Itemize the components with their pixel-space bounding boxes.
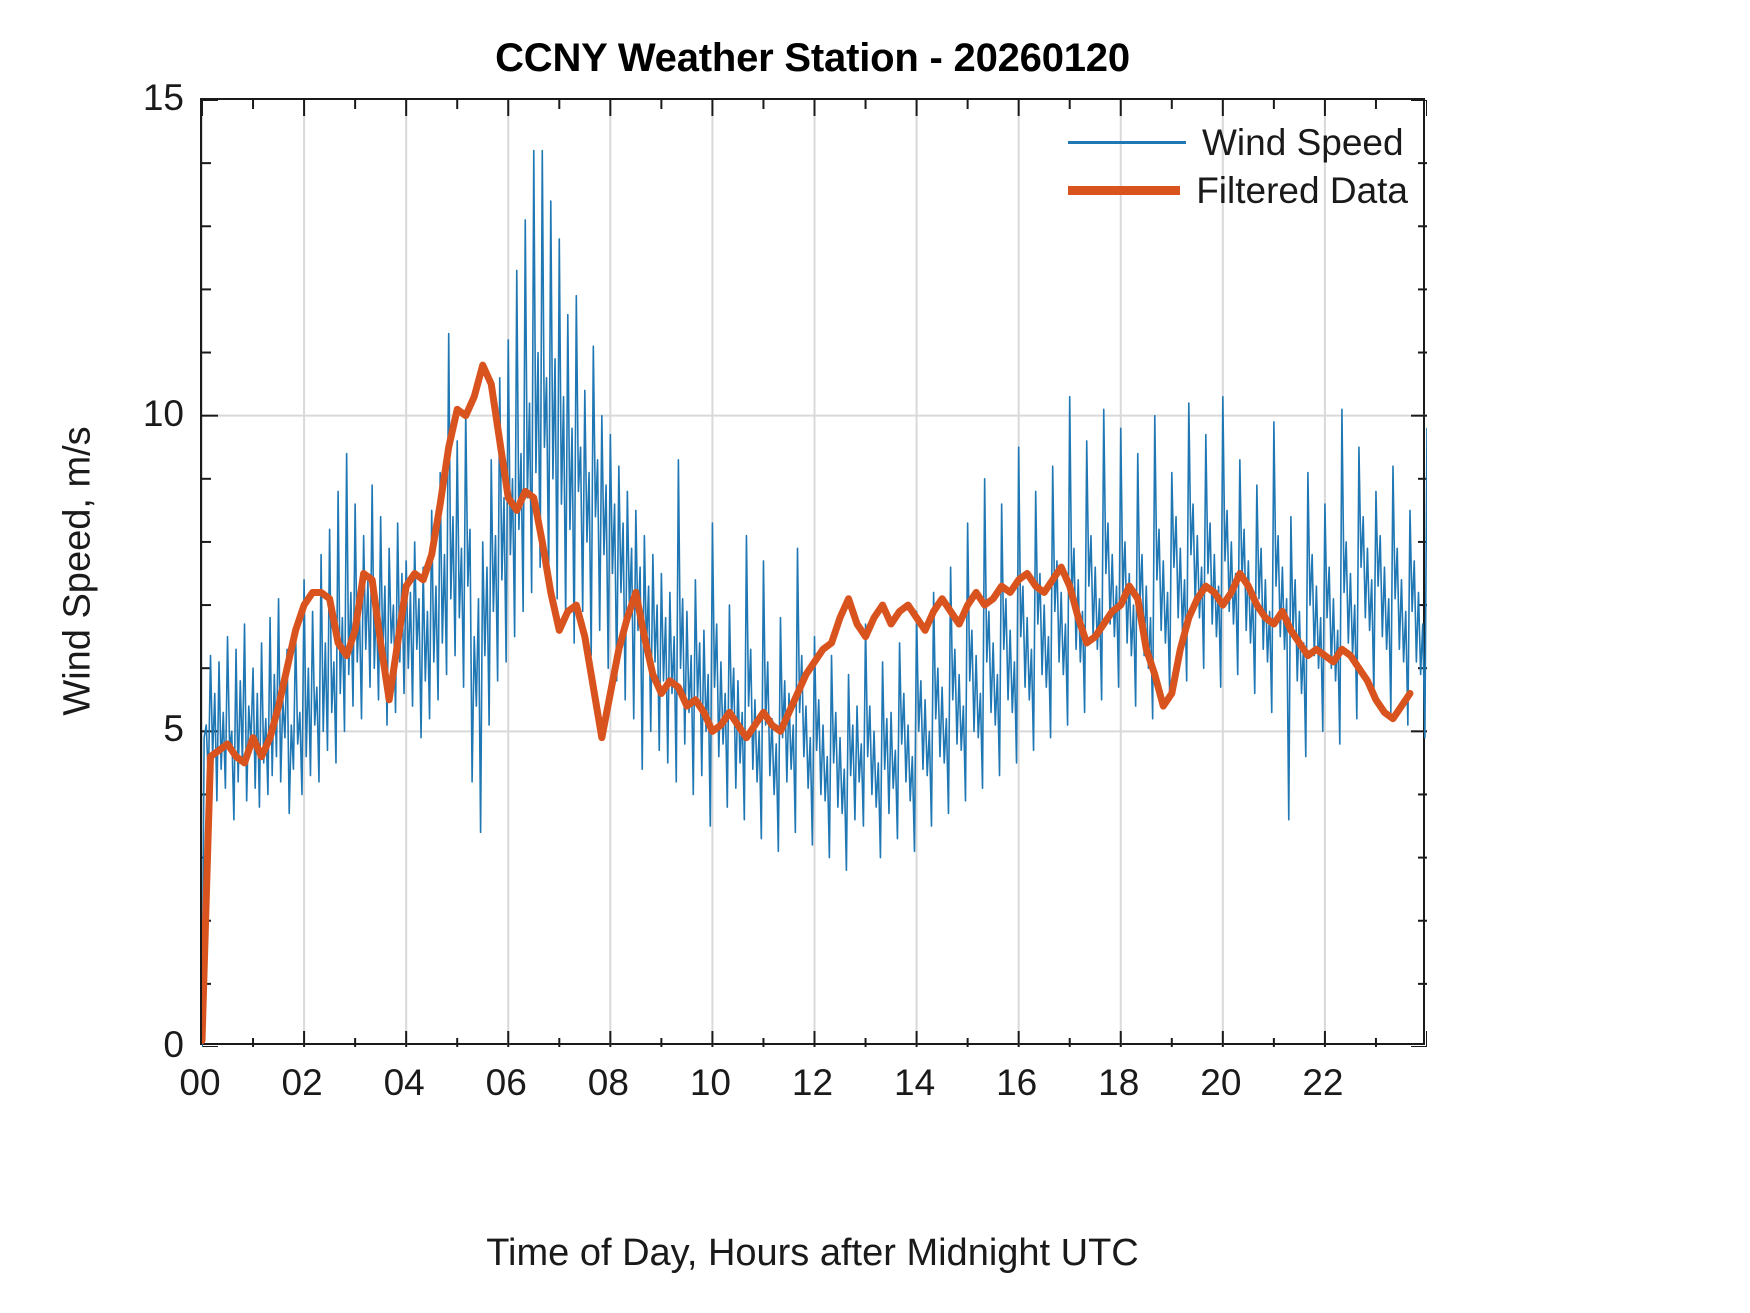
chart-legend: Wind Speed Filtered Data [1068, 118, 1408, 214]
legend-swatch-wind-speed [1068, 141, 1186, 144]
plot-area [200, 98, 1425, 1045]
series-line-filtered-data [202, 365, 1410, 1041]
figure-canvas: CCNY Weather Station - 20260120 Wind Spe… [0, 0, 1750, 1313]
chart-title: CCNY Weather Station - 20260120 [200, 36, 1425, 81]
chart-svg [202, 100, 1427, 1047]
x-tick-22: 22 [1253, 1062, 1393, 1104]
plot-svg-wrapper [202, 100, 1423, 1043]
y-tick-10: 10 [64, 393, 184, 435]
legend-label-wind-speed: Wind Speed [1202, 124, 1404, 161]
legend-item-wind-speed[interactable]: Wind Speed [1068, 118, 1408, 166]
x-axis-label: Time of Day, Hours after Midnight UTC [200, 1232, 1425, 1275]
legend-item-filtered-data[interactable]: Filtered Data [1068, 166, 1408, 214]
y-axis-label: Wind Speed, m/s [57, 426, 100, 715]
y-tick-0: 0 [64, 1024, 184, 1066]
y-tick-5: 5 [64, 708, 184, 750]
legend-swatch-filtered-data [1068, 186, 1180, 195]
y-tick-15: 15 [64, 77, 184, 119]
legend-label-filtered-data: Filtered Data [1196, 172, 1408, 209]
